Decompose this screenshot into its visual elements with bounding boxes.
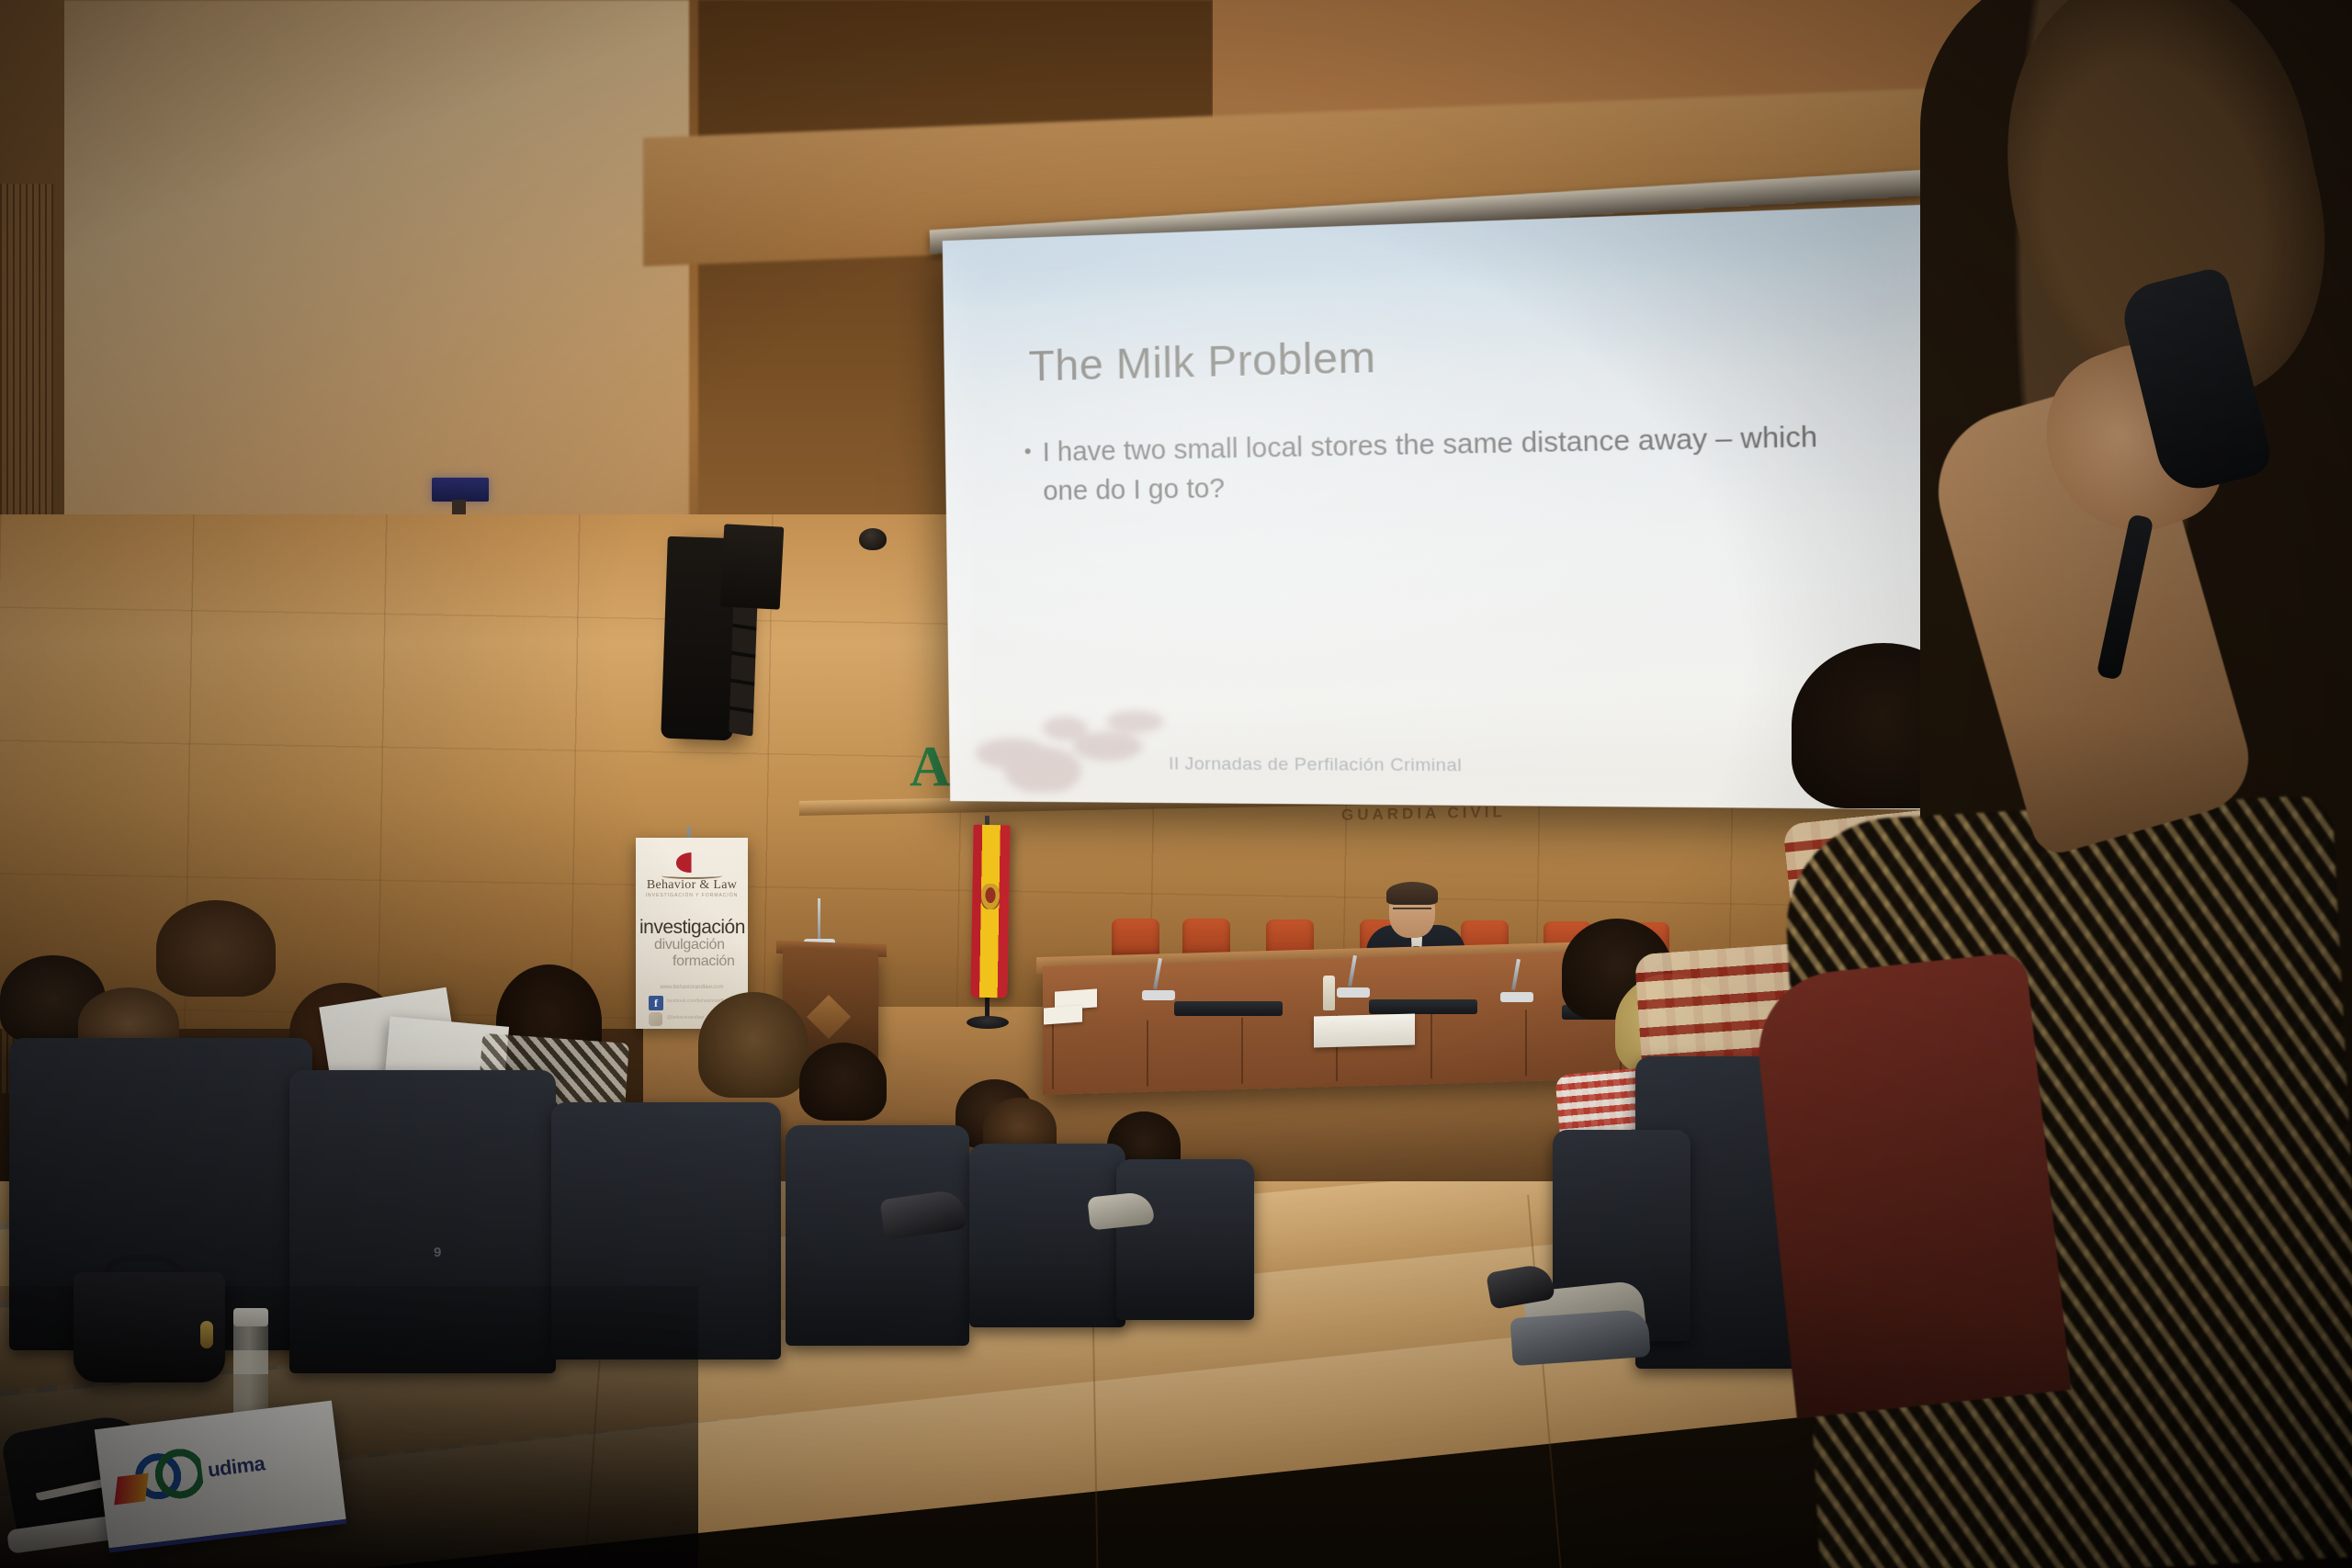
udima-logo-accent-icon [114, 1473, 149, 1506]
projection-screen: The Milk Problem • I have two small loca… [943, 205, 1935, 809]
audience-seat [1116, 1159, 1254, 1320]
spain-flag [970, 825, 1010, 998]
audience-seat [786, 1125, 969, 1346]
table-microphone-base [1500, 992, 1533, 1002]
banner-line-divulgacion: divulgación [654, 937, 725, 953]
audience-head [698, 992, 808, 1098]
water-bottle-table [1323, 976, 1335, 1010]
speaker-hair [1386, 882, 1438, 905]
dome-camera-icon [859, 528, 887, 550]
table-paper [1044, 1006, 1082, 1025]
banner-logo-icon [676, 852, 707, 873]
table-microphone-base [1142, 990, 1175, 1000]
screen-surface: The Milk Problem • I have two small loca… [943, 205, 1935, 809]
wall-display-panel [432, 478, 489, 502]
banner-url: www.behaviorandlaw.com [636, 985, 748, 990]
audience-sneaker [1510, 1309, 1650, 1366]
presidium-chair [1112, 919, 1159, 959]
water-bottle-label [233, 1350, 268, 1374]
line-array-top-module [720, 524, 785, 609]
slide-footer: II Jornadas de Perfilación Criminal [1169, 754, 1462, 776]
banner-line-formacion: formación [673, 953, 735, 970]
water-bottle-cap [233, 1308, 268, 1326]
facebook-icon: f [649, 996, 663, 1010]
slide-bullet-item: • I have two small local stores the same… [1024, 416, 1852, 511]
slide-watermark-image [954, 682, 1188, 794]
laptop [1369, 999, 1477, 1014]
table-microphone-base [1337, 987, 1370, 998]
speaker-nameplate [1314, 1014, 1415, 1048]
slide-body: • I have two small local stores the same… [1024, 416, 1852, 511]
wall-text-guardia-civil: GUARDIA CIVIL [1341, 803, 1506, 824]
spain-coat-of-arms-icon [981, 884, 1000, 909]
lectern-microphone [818, 898, 820, 942]
acoustic-slat-panel-left-upper [0, 184, 53, 570]
instagram-icon [649, 1012, 662, 1026]
flag-stand [967, 1016, 1009, 1029]
bullet-marker-icon: • [1024, 434, 1033, 512]
laptop [1174, 1001, 1283, 1016]
slide-title: The Milk Problem [1028, 332, 1376, 391]
audience-head [799, 1043, 887, 1121]
foreground-maroon-sleeve [1751, 952, 2072, 1419]
handbag-clasp-icon [200, 1321, 213, 1348]
auditorium-photo-scene: GUARDIA CIVIL AC The Milk Problem • I ha… [0, 0, 2352, 1568]
slide-bullet-text: I have two small local stores the same d… [1042, 416, 1851, 511]
banner-brand-subtitle: INVESTIGACIÓN Y FORMACIÓN [636, 893, 748, 898]
banner-brand-name: Behavior & Law [636, 878, 748, 893]
banner-instagram-text: @behaviorandlaw [667, 1015, 704, 1021]
audience-seat [969, 1144, 1125, 1327]
audience-head [156, 900, 276, 997]
banner-line-investigacion: investigación [639, 917, 745, 939]
seat-number-label: 9 [434, 1245, 441, 1260]
speaker-glasses-icon [1393, 908, 1431, 916]
